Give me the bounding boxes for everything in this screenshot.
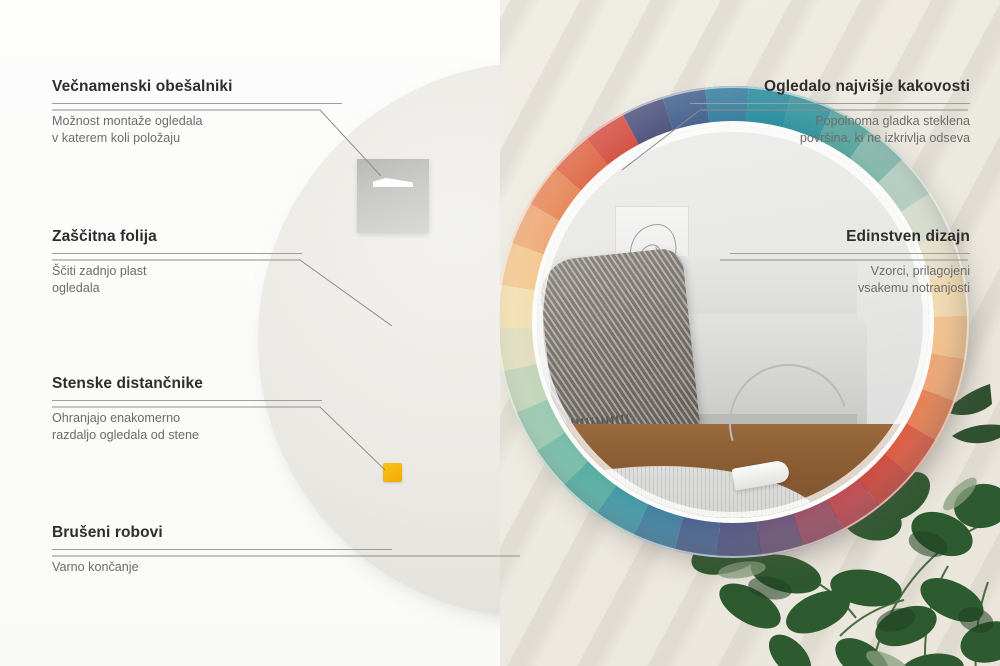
hanger-plate — [357, 159, 429, 233]
callout-rule — [730, 253, 970, 254]
callout-title: Edinstven dizajn — [730, 228, 970, 246]
callout-description: Vzorci, prilagojeni vsakemu notranjosti — [730, 263, 970, 297]
callout-rule — [690, 103, 970, 104]
callout-title: Zaščitna folija — [52, 228, 302, 246]
callout-description: Ohranjajo enakomerno razdaljo ogledala o… — [52, 410, 322, 444]
callout-multifunctional-hangers: Večnamenski obešalniki Možnost montaže o… — [52, 78, 342, 147]
round-mirror — [497, 86, 969, 558]
callout-rule — [52, 103, 342, 104]
hanger-slot-icon — [373, 178, 413, 187]
callout-description: Popolnoma gladka steklena površina, ki n… — [690, 113, 970, 147]
mirror-glass — [537, 126, 929, 518]
callout-unique-design: Edinstven dizajn Vzorci, prilagojeni vsa… — [730, 228, 970, 297]
callout-rule — [52, 400, 322, 401]
callout-description: Ščiti zadnjo plast ogledala — [52, 263, 302, 297]
callout-title: Večnamenski obešalniki — [52, 78, 342, 96]
callout-title: Stenske distančnike — [52, 375, 322, 393]
callout-title: Brušeni robovi — [52, 524, 392, 542]
infographic-canvas: Večnamenski obešalniki Možnost montaže o… — [0, 0, 1000, 666]
callout-rule — [52, 549, 392, 550]
callout-protective-foil: Zaščitna folija Ščiti zadnjo plast ogled… — [52, 228, 302, 297]
yellow-spacer — [383, 463, 402, 482]
callout-description: Varno končanje — [52, 559, 392, 576]
callout-rule — [52, 253, 302, 254]
callout-title: Ogledalo najvišje kakovosti — [690, 78, 970, 96]
callout-wall-spacers: Stenske distančnike Ohranjajo enakomerno… — [52, 375, 322, 444]
callout-polished-edges: Brušeni robovi Varno končanje — [52, 524, 392, 576]
callout-description: Možnost montaže ogledala v katerem koli … — [52, 113, 342, 147]
callout-top-quality-mirror: Ogledalo najvišje kakovosti Popolnoma gl… — [690, 78, 970, 147]
